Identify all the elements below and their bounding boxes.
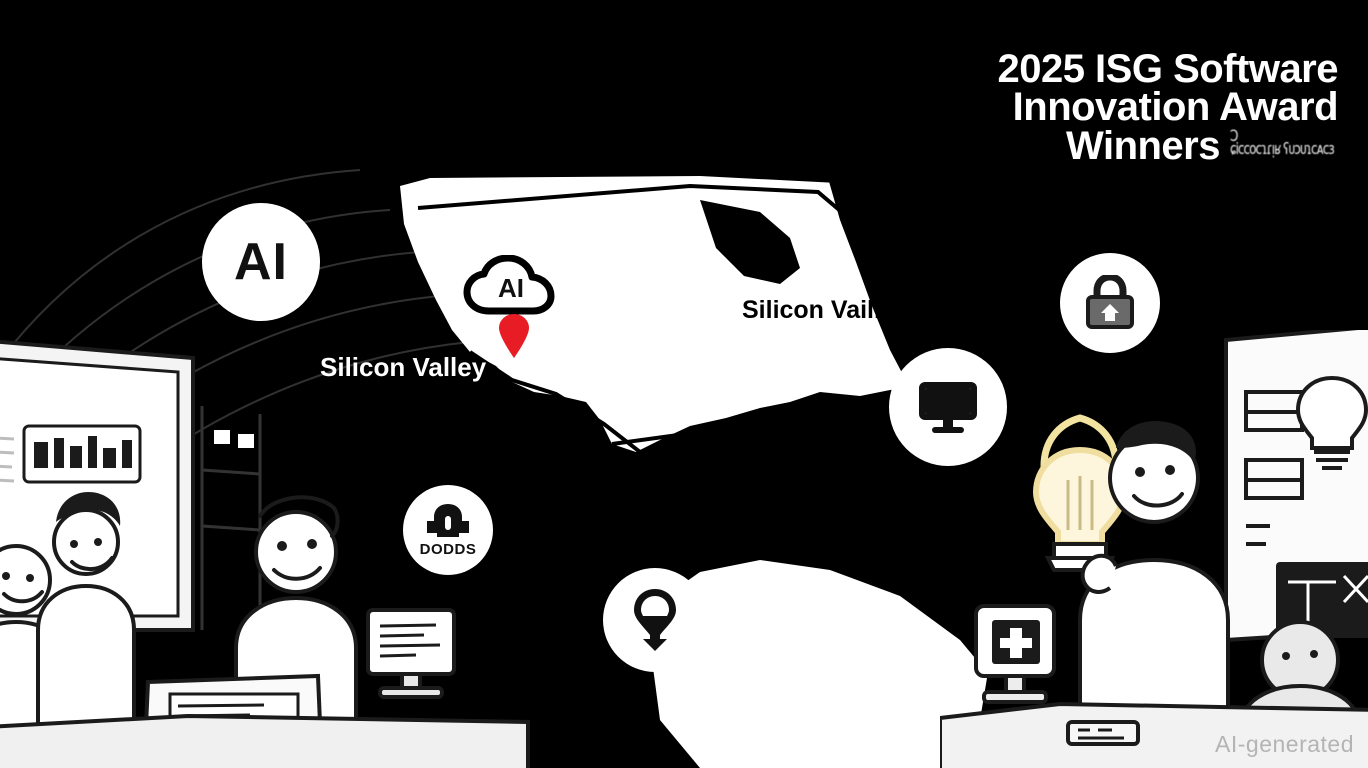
poster-title: 2025 ISG Software Innovation Award Winne… bbox=[958, 50, 1338, 165]
cloud-ai-label: AI bbox=[498, 273, 524, 303]
title-line-3-row: Winners Ɔ ɕiᴄᴄᴏᴄɿɾᴉʁ ʕᴜɔᴜɿᴄᴀᴄɜ bbox=[958, 127, 1338, 165]
server-rack-icon bbox=[202, 406, 260, 630]
ai-badge[interactable]: AI bbox=[202, 203, 320, 321]
desk-monitor-icon bbox=[368, 610, 454, 697]
map-pin-icon bbox=[630, 587, 680, 653]
cloud-ai-icon: AI bbox=[463, 255, 559, 322]
glowing-bulb-icon bbox=[1036, 418, 1124, 570]
desk-surface bbox=[0, 716, 528, 768]
map-label-silicon-valley-right: Silicon Vailleg bbox=[742, 296, 910, 325]
location-badge[interactable] bbox=[603, 568, 707, 672]
ai-generated-watermark: AI-generated bbox=[1215, 731, 1354, 758]
title-line-2: Innovation Award bbox=[958, 88, 1338, 126]
title-line-1: 2025 ISG Software bbox=[958, 50, 1338, 88]
medical-monitor-icon bbox=[976, 606, 1054, 702]
padlock-icon bbox=[1084, 275, 1136, 331]
garbled-subtext-line-2: ɕiᴄᴄᴏᴄɿɾᴉʁ ʕᴜɔᴜɿᴄᴀᴄɜ bbox=[1230, 142, 1334, 158]
garbled-subtext: Ɔ ɕiᴄᴄᴏᴄɿɾᴉʁ ʕᴜɔᴜɿᴄᴀᴄɜ bbox=[1230, 127, 1338, 161]
ai-badge-label: AI bbox=[234, 236, 288, 288]
left-illustration-group bbox=[0, 330, 548, 768]
whiteboard-icon bbox=[1226, 330, 1368, 640]
poster-canvas: 2025 ISG Software Innovation Award Winne… bbox=[0, 0, 1368, 768]
title-line-3: Winners bbox=[1066, 127, 1220, 165]
right-illustration-group bbox=[940, 330, 1368, 768]
keyboard-icon bbox=[1068, 722, 1138, 744]
